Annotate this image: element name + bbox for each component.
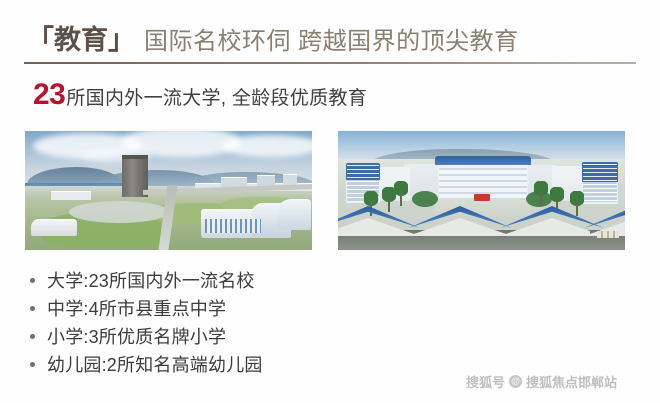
list-item: 小学:3所优质名牌小学 xyxy=(30,322,450,350)
watermark-left-text: 搜狐号 xyxy=(466,372,505,391)
signboard xyxy=(597,231,619,238)
list-item-label: 小学:3所优质名牌小学 xyxy=(47,323,226,349)
blue-roof-pavilion xyxy=(408,206,512,250)
school-list: 大学:23所国内外一流名校 中学:4所市县重点中学 小学:3所优质名牌小学 幼儿… xyxy=(30,266,450,378)
watermark-right-text: 搜狐焦点邯郸站 xyxy=(526,372,617,391)
list-item-label: 幼儿园:2所知名高端幼儿园 xyxy=(47,351,263,377)
aerial-campus-photo xyxy=(25,131,312,250)
building xyxy=(51,191,91,200)
red-banner xyxy=(474,194,490,201)
list-item-label: 大学:23所国内外一流名校 xyxy=(47,267,255,293)
watermark-badge-icon: @ xyxy=(509,375,522,388)
window-rows xyxy=(583,164,617,202)
page-title-tag: 「教育」 xyxy=(27,18,135,57)
bullet-dot-icon xyxy=(30,306,35,311)
palm-tree xyxy=(394,181,408,205)
pavilion-eave xyxy=(408,218,512,236)
list-item: 中学:4所市县重点中学 xyxy=(30,294,450,322)
building xyxy=(31,219,77,236)
watermark: 搜狐号 @ 搜狐焦点邯郸站 xyxy=(466,372,617,391)
education-slide: 「教育」 国际名校环伺 跨越国界的顶尖教育 23 所国内外一流大学, 全龄段优质… xyxy=(0,0,660,403)
window-rows xyxy=(205,219,261,233)
pavilion-row xyxy=(338,206,625,250)
plaza xyxy=(69,201,169,223)
highlight-number: 23 xyxy=(33,78,65,112)
photo-gallery xyxy=(25,131,625,250)
cloud xyxy=(221,135,312,157)
list-item-label: 中学:4所市县重点中学 xyxy=(47,295,226,321)
highlight-text: 所国内外一流大学, 全龄段优质教育 xyxy=(66,83,367,110)
bullet-dot-icon xyxy=(30,334,35,339)
header-divider xyxy=(24,62,636,64)
building xyxy=(277,199,311,230)
page-title: 「教育」 国际名校环伺 跨越国界的顶尖教育 xyxy=(27,18,639,56)
list-item: 幼儿园:2所知名高端幼儿园 xyxy=(30,350,450,378)
list-item: 大学:23所国内外一流名校 xyxy=(30,266,450,294)
page-title-subtitle: 国际名校环伺 跨越国界的顶尖教育 xyxy=(144,21,519,56)
highlight-subtitle: 23 所国内外一流大学, 全龄段优质教育 xyxy=(33,78,367,112)
blue-roof xyxy=(435,156,531,165)
shrub xyxy=(412,191,438,207)
bullet-dot-icon xyxy=(30,278,35,283)
palm-tree xyxy=(534,181,548,205)
school-campus-photo xyxy=(338,131,625,250)
bullet-dot-icon xyxy=(30,362,35,367)
blue-roof-pavilion xyxy=(584,206,625,250)
